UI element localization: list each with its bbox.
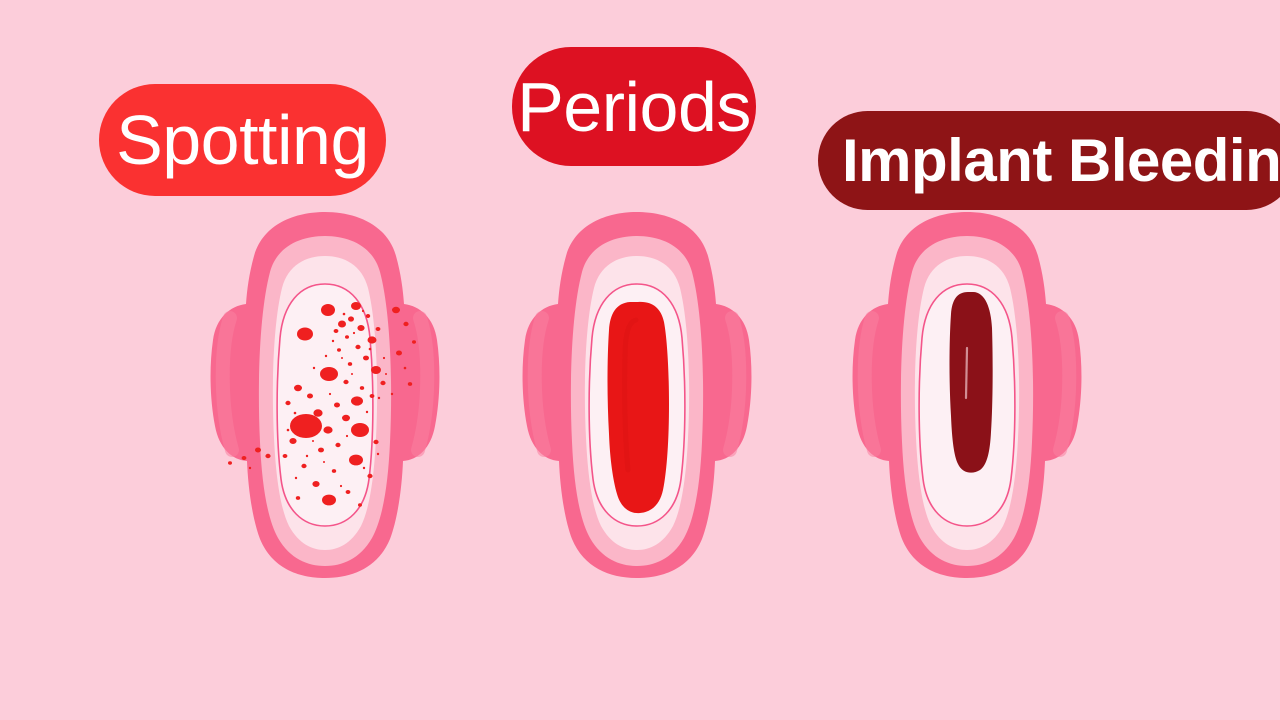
label-text-implant-bleeding: Implant Bleeding (842, 126, 1280, 195)
label-pill-implant-bleeding: Implant Bleeding (818, 111, 1280, 210)
infographic-canvas: Spotting Periods Implant Bleeding (0, 0, 1280, 720)
pad-illustration-periods (512, 198, 762, 584)
pad-illustration-implant-bleeding (842, 198, 1092, 584)
label-text-spotting: Spotting (116, 100, 369, 180)
pad-illustration-spotting (200, 198, 450, 584)
label-text-periods: Periods (517, 67, 751, 147)
label-pill-spotting: Spotting (99, 84, 386, 196)
label-pill-periods: Periods (512, 47, 756, 166)
blood-stain-implant (950, 292, 993, 473)
blood-stain-periods (608, 302, 670, 513)
